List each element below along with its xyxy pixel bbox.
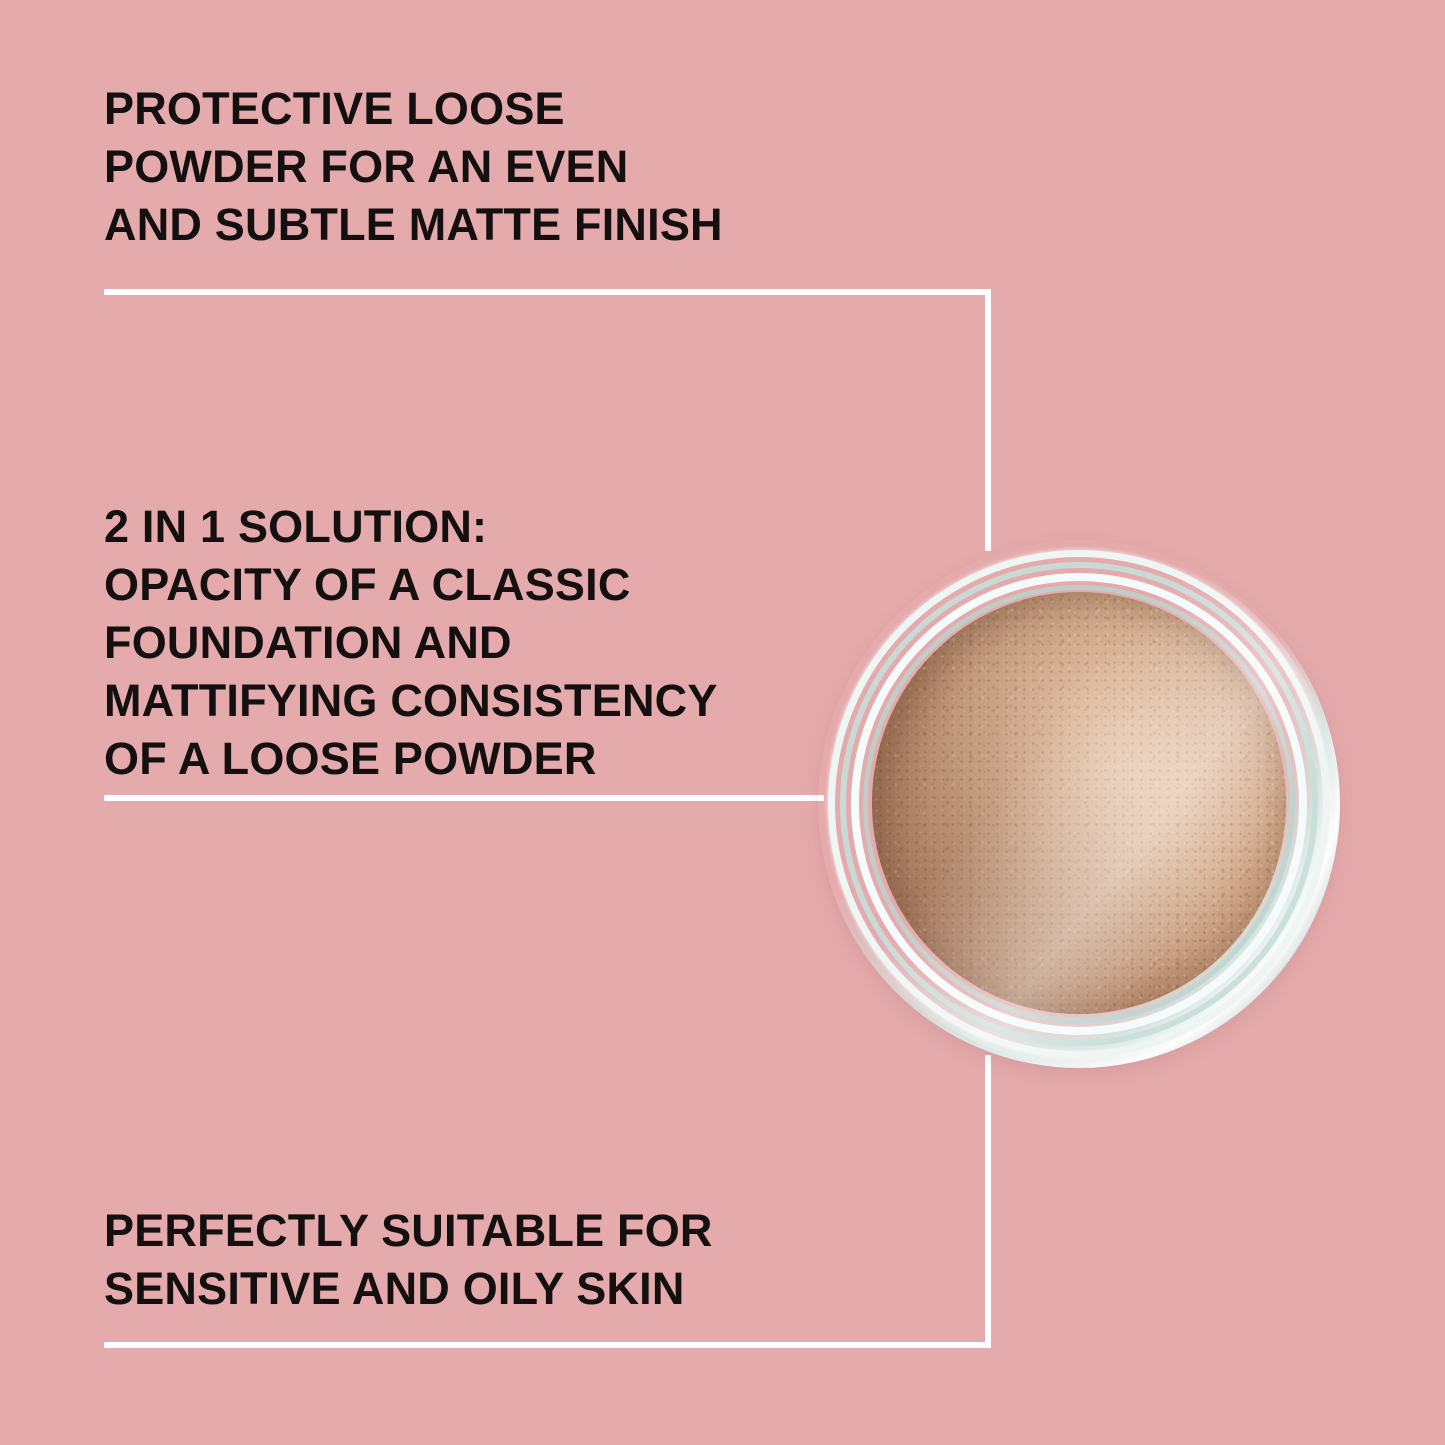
headline-suitable-sensitive-oily-skin: PERFECTLY SUITABLE FOR SENSITIVE AND OIL… bbox=[104, 1202, 713, 1318]
divider-line-vertical-lower bbox=[985, 1055, 991, 1348]
divider-line-bottom bbox=[104, 1342, 991, 1348]
product-feature-graphic: PROTECTIVE LOOSE POWDER FOR AN EVEN AND … bbox=[0, 0, 1445, 1445]
divider-line-vertical-upper bbox=[985, 289, 991, 551]
headline-2-in-1-solution: 2 IN 1 SOLUTION: OPACITY OF A CLASSIC FO… bbox=[104, 498, 718, 788]
loose-powder-jar-image bbox=[818, 540, 1340, 1068]
powder-surface bbox=[872, 592, 1286, 1014]
divider-line-top bbox=[104, 289, 991, 295]
powder-rim-shadow bbox=[872, 592, 1286, 1014]
headline-protective-loose-powder: PROTECTIVE LOOSE POWDER FOR AN EVEN AND … bbox=[104, 80, 723, 254]
divider-line-middle bbox=[104, 795, 824, 801]
